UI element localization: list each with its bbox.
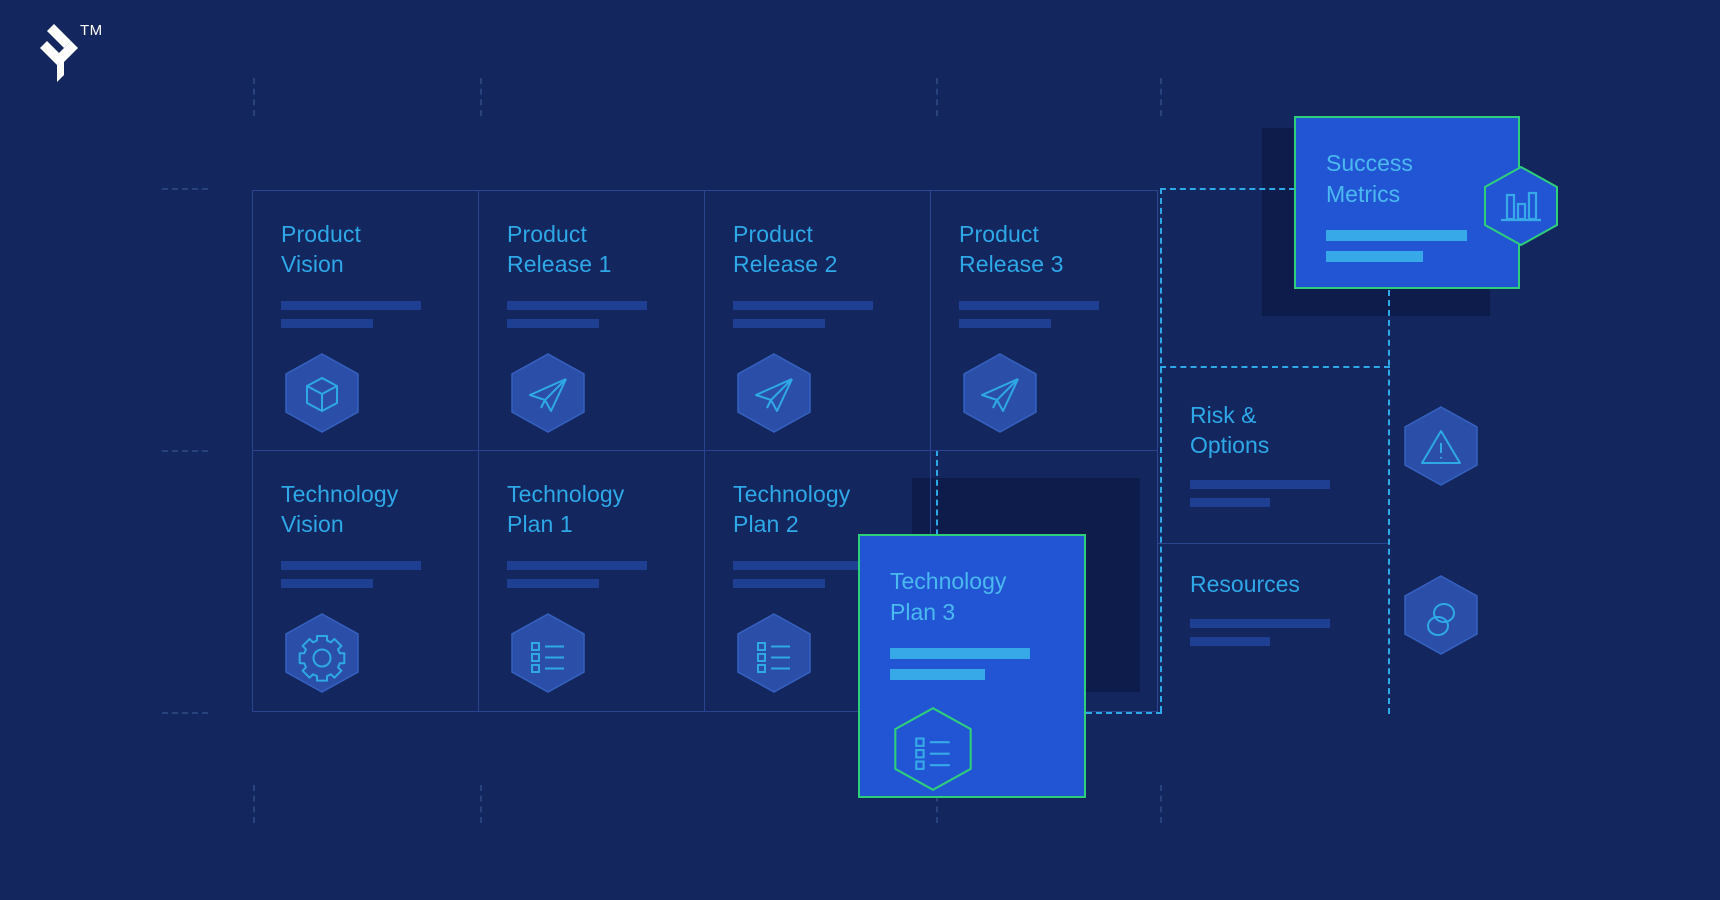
- cell-title: Technology Plan 1: [507, 479, 676, 539]
- checklist-icon: [733, 610, 815, 696]
- placeholder-bar: [1190, 498, 1270, 507]
- side-placeholder-bars: [1190, 619, 1388, 646]
- placeholder-bar: [507, 561, 647, 570]
- card-title: Technology Plan 3: [890, 566, 1054, 628]
- cell-placeholder-bars: [281, 561, 450, 588]
- guide-line-vertical: [1160, 785, 1162, 823]
- placeholder-bar: [507, 301, 647, 310]
- connector-mid-horizontal: [1160, 366, 1390, 368]
- paper-plane-icon: [507, 350, 589, 436]
- placeholder-bar: [733, 561, 873, 570]
- side-column: Risk & Options Resources: [1158, 375, 1388, 712]
- paper-plane-icon: [733, 350, 815, 436]
- guide-line-vertical: [253, 785, 255, 823]
- bar-chart-icon: [1480, 163, 1562, 249]
- cell-title: Product Release 2: [733, 219, 902, 279]
- card-success-metrics[interactable]: Success Metrics: [1294, 116, 1520, 289]
- guide-line-vertical: [480, 78, 482, 116]
- guide-line-vertical: [480, 785, 482, 823]
- placeholder-bar: [281, 301, 421, 310]
- side-section-risk-options[interactable]: Risk & Options: [1158, 375, 1388, 543]
- side-title: Resources: [1190, 569, 1388, 599]
- cell-placeholder-bars: [733, 301, 902, 328]
- cell-placeholder-bars: [281, 301, 450, 328]
- connector-success-down: [1388, 290, 1390, 714]
- placeholder-bar: [1190, 480, 1330, 489]
- placeholder-bar: [890, 669, 985, 680]
- cell-placeholder-bars: [507, 561, 676, 588]
- cell-placeholder-bars: [959, 301, 1129, 328]
- grid-cell-product-release-1[interactable]: Product Release 1: [479, 191, 705, 451]
- paper-plane-icon: [959, 350, 1041, 436]
- trademark-symbol: TM: [80, 22, 103, 39]
- placeholder-bar: [281, 579, 373, 588]
- card-placeholder-bars: [1326, 230, 1488, 262]
- logo-mark-icon: [26, 20, 88, 82]
- card-placeholder-bars: [890, 648, 1054, 680]
- guide-line-horizontal: [162, 712, 208, 714]
- cell-title: Technology Plan 2: [733, 479, 902, 539]
- grid-cell-product-release-3[interactable]: Product Release 3: [931, 191, 1157, 451]
- cell-title: Product Vision: [281, 219, 450, 279]
- side-section-resources[interactable]: Resources: [1158, 543, 1388, 711]
- placeholder-bar: [1190, 637, 1270, 646]
- placeholder-bar: [733, 579, 825, 588]
- gear-icon: [281, 610, 363, 696]
- placeholder-bar: [959, 319, 1051, 328]
- placeholder-bar: [1326, 230, 1467, 241]
- grid-cell-product-vision[interactable]: Product Vision: [253, 191, 479, 451]
- guide-line-horizontal: [162, 188, 208, 190]
- side-title: Risk & Options: [1190, 400, 1388, 460]
- toptal-logo: TM: [26, 20, 96, 82]
- warning-triangle-icon: [1400, 403, 1482, 489]
- guide-line-vertical: [1160, 78, 1162, 116]
- placeholder-bar: [1190, 619, 1330, 628]
- placeholder-bar: [1326, 251, 1423, 262]
- diagram-canvas: TM Product Vision: [0, 0, 1720, 900]
- cell-title: Product Release 3: [959, 219, 1129, 279]
- placeholder-bar: [281, 561, 421, 570]
- cube-icon: [281, 350, 363, 436]
- placeholder-bar: [507, 319, 599, 328]
- placeholder-bar: [733, 319, 825, 328]
- card-technology-plan-3[interactable]: Technology Plan 3: [858, 534, 1086, 798]
- linked-rings-icon: [1400, 572, 1482, 658]
- cell-placeholder-bars: [507, 301, 676, 328]
- guide-line-horizontal: [162, 450, 208, 452]
- grid-cell-technology-vision[interactable]: Technology Vision: [253, 451, 479, 711]
- card-title: Success Metrics: [1326, 148, 1488, 210]
- cell-title: Product Release 1: [507, 219, 676, 279]
- placeholder-bar: [890, 648, 1030, 659]
- placeholder-bar: [733, 301, 873, 310]
- placeholder-bar: [959, 301, 1099, 310]
- checklist-icon: [507, 610, 589, 696]
- connector-success-horizontal: [1160, 188, 1305, 190]
- placeholder-bar: [281, 319, 373, 328]
- guide-line-vertical: [253, 78, 255, 116]
- checklist-icon: [890, 704, 976, 794]
- placeholder-bar: [507, 579, 599, 588]
- guide-line-vertical: [936, 78, 938, 116]
- side-placeholder-bars: [1190, 480, 1388, 507]
- grid-cell-technology-plan-1[interactable]: Technology Plan 1: [479, 451, 705, 711]
- grid-cell-product-release-2[interactable]: Product Release 2: [705, 191, 931, 451]
- cell-title: Technology Vision: [281, 479, 450, 539]
